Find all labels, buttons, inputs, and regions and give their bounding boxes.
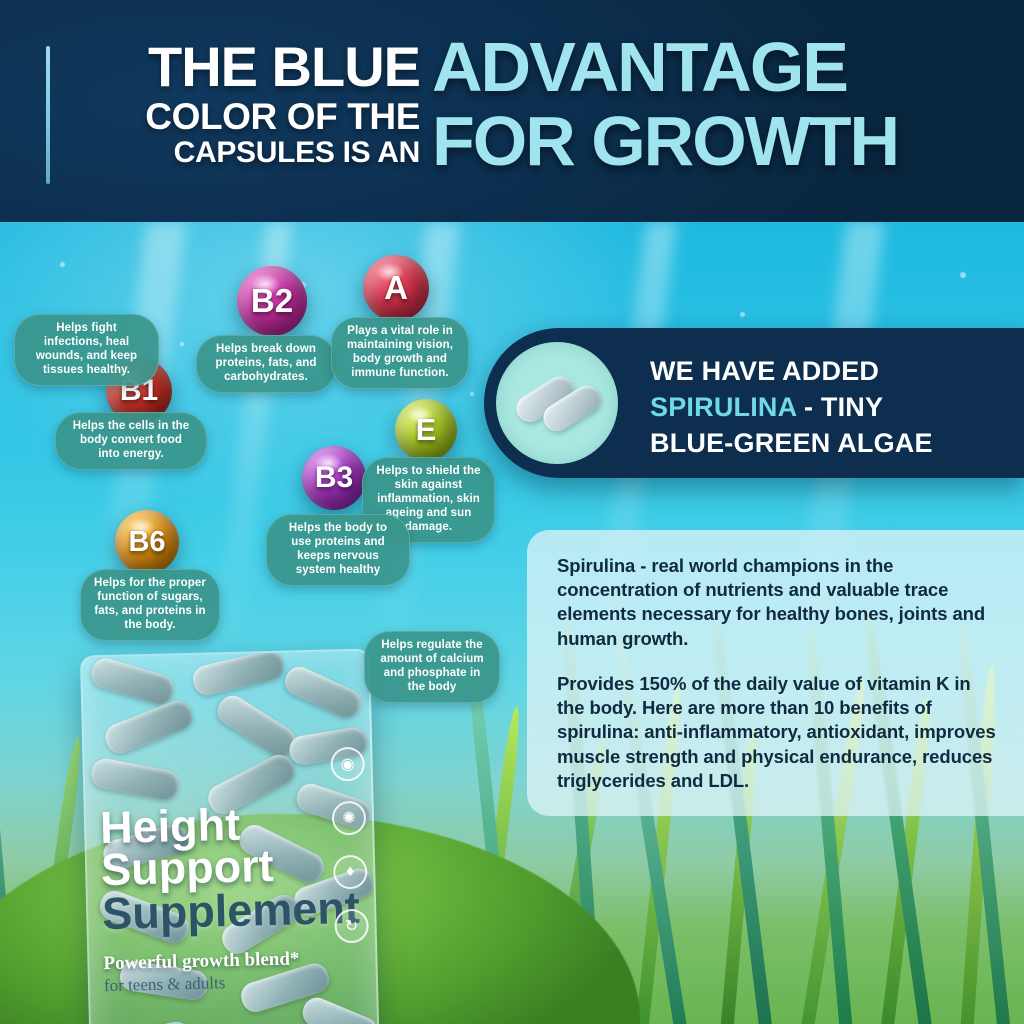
description-paragraph-2: Provides 150% of the daily value of vita…: [557, 672, 996, 793]
product-bottle: Height Support Supplement Powerful growt…: [80, 649, 382, 1024]
bubble: [60, 262, 65, 267]
description-paragraph-1: Spirulina - real world champions in the …: [557, 554, 996, 651]
callout-a: Plays a vital role in maintaining vision…: [331, 317, 469, 389]
spirulina-line-2: SPIRULINA - TINY: [650, 390, 933, 426]
muscle-icon: ♦: [333, 855, 368, 890]
header-line-1: THE BLUE: [60, 40, 420, 94]
spirulina-banner: WE HAVE ADDED SPIRULINA - TINY BLUE-GREE…: [484, 328, 1024, 478]
header-right-text: ADVANTAGE FOR GROWTH: [432, 32, 1012, 176]
vitamin-badge-b3: B3: [302, 446, 366, 510]
bottle-subtitle: Supplement: [102, 886, 365, 934]
vitamin-badge-e-label: E: [416, 412, 437, 448]
vitamin-badge-a: A: [363, 255, 429, 321]
infographic-poster: THE BLUE COLOR OF THE CAPSULES IS AN ADV…: [0, 0, 1024, 1024]
bottle-label: Height Support Supplement Powerful growt…: [100, 801, 367, 996]
bubble: [180, 342, 184, 346]
bone-icon: ✺: [332, 801, 367, 836]
vitamin-badge-b6-label: B6: [128, 526, 165, 559]
spirulina-line-1: WE HAVE ADDED: [650, 354, 933, 390]
bubble: [740, 312, 745, 317]
callout-calcium: Helps regulate the amount of calcium and…: [364, 631, 500, 703]
callout-immune: Helps fight infections, heal wounds, and…: [14, 314, 159, 386]
callout-b1: Helps the cells in the body convert food…: [55, 412, 207, 470]
callout-b6: Helps for the proper function of sugars,…: [80, 569, 220, 641]
spirulina-capsule-circle: [496, 342, 618, 464]
header-line-3: CAPSULES IS AN: [60, 138, 420, 168]
spirulina-banner-text: WE HAVE ADDED SPIRULINA - TINY BLUE-GREE…: [650, 354, 933, 462]
header-for-growth: FOR GROWTH: [432, 106, 1012, 176]
header-accent-bar: [46, 46, 50, 184]
spirulina-description-panel: Spirulina - real world champions in the …: [527, 530, 1024, 816]
vitamin-badge-b2: B2: [237, 266, 307, 336]
vitamin-badge-b6: B6: [115, 510, 179, 574]
callout-b3: Helps the body to use proteins and keeps…: [266, 514, 410, 586]
header-banner: THE BLUE COLOR OF THE CAPSULES IS AN ADV…: [0, 0, 1024, 222]
bubble: [960, 272, 966, 278]
header-left-text: THE BLUE COLOR OF THE CAPSULES IS AN: [60, 40, 420, 168]
spirulina-keyword: SPIRULINA: [650, 392, 796, 422]
header-advantage: ADVANTAGE: [432, 32, 1012, 102]
vitamin-badge-b3-label: B3: [315, 461, 353, 495]
spirulina-line-2-rest: - TINY: [796, 392, 883, 422]
callout-b2: Helps break down proteins, fats, and car…: [196, 335, 336, 393]
bottle-benefit-icons: ◉ ✺ ♦ ↻: [330, 747, 369, 944]
vitamin-badge-a-label: A: [384, 269, 408, 307]
spirulina-line-3: BLUE-GREEN ALGAE: [650, 426, 933, 462]
energy-icon: ↻: [334, 909, 369, 944]
vitamin-badge-e: E: [395, 399, 457, 461]
brain-icon: ◉: [330, 747, 365, 782]
header-line-2: COLOR OF THE: [60, 98, 420, 135]
vitamin-badge-b2-label: B2: [251, 282, 293, 320]
bubble: [470, 392, 474, 396]
